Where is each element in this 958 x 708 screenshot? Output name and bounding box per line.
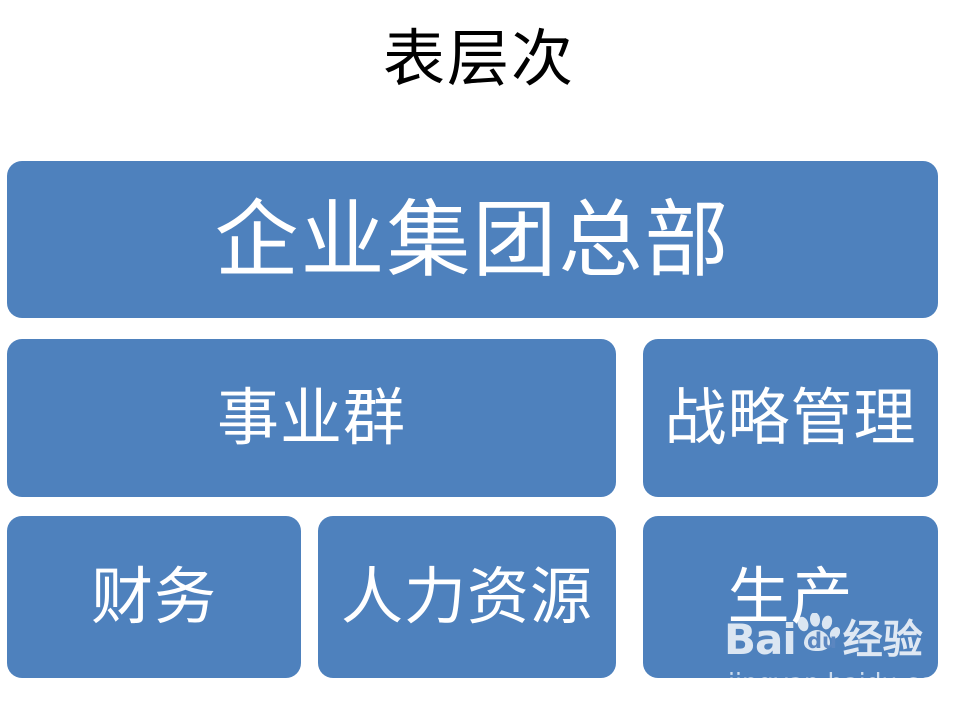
org-node-label: 财务 (91, 566, 217, 628)
org-node-headquarters[interactable]: 企业集团总部 (7, 161, 938, 318)
org-node-label: 人力资源 (341, 566, 593, 628)
org-node-strategy-management[interactable]: 战略管理 (643, 339, 938, 497)
org-node-production[interactable]: 生产 (643, 516, 938, 678)
org-node-label: 事业群 (217, 387, 406, 449)
org-node-human-resources[interactable]: 人力资源 (318, 516, 616, 678)
org-node-finance[interactable]: 财务 (7, 516, 301, 678)
page-title: 表层次 (0, 22, 958, 96)
org-node-label: 生产 (727, 566, 853, 628)
org-node-label: 企业集团总部 (214, 198, 730, 282)
org-node-business-group[interactable]: 事业群 (7, 339, 616, 497)
slide-canvas: 表层次 企业集团总部 事业群 战略管理 财务 人力资源 生产 Bai (0, 0, 958, 708)
org-node-label: 战略管理 (664, 387, 916, 449)
